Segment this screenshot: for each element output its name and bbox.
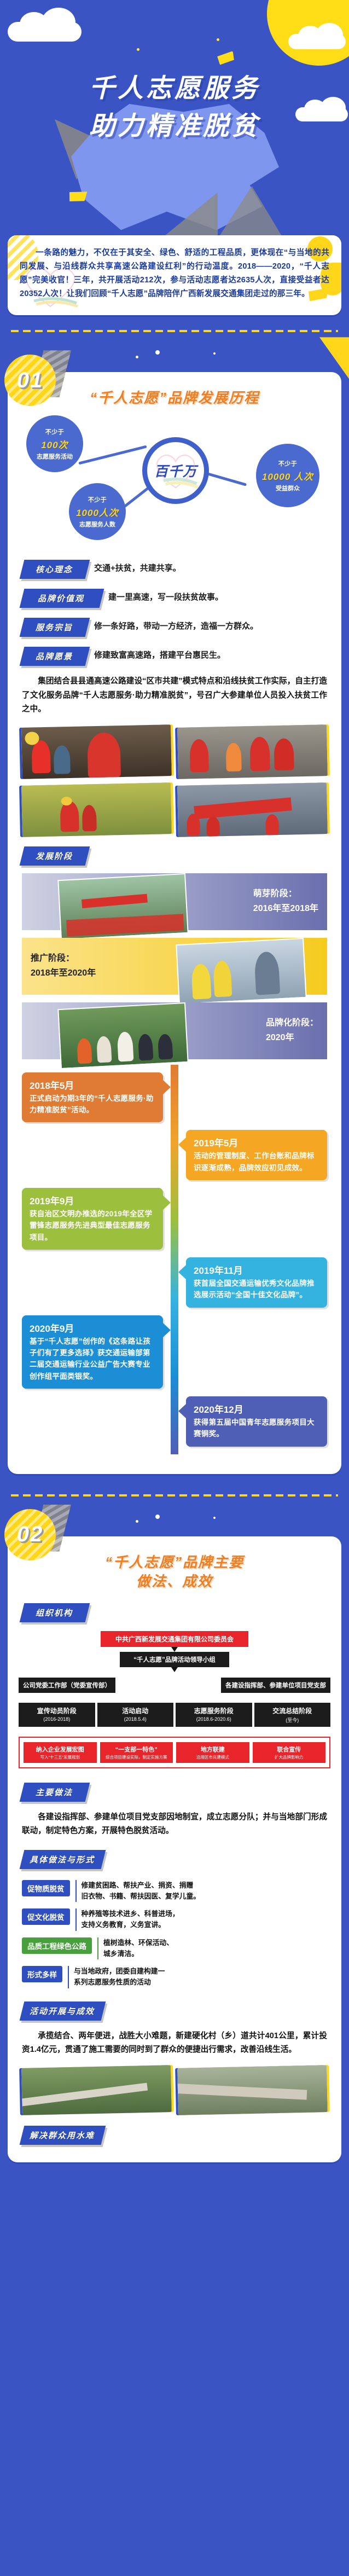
timeline-item-2020-12: 2020年12月 获得第五届中国青年志愿服务项目大赛铜奖。	[186, 1396, 327, 1447]
stage-photo	[57, 873, 188, 940]
section-01-card: “千人志愿”品牌发展历程 不少于 100次 志愿服务活动 不少于 1000人次 …	[8, 372, 341, 1473]
photo-road-construction	[177, 2065, 328, 2115]
effect-paragraph: 承揽结合、两年便进，战胜大小难题，新建硬化村（乡）道共计401公里，累计投资1.…	[8, 2021, 341, 2057]
plus-spark-icon	[213, 352, 216, 355]
form-label: 品质工程绿色公路	[22, 1937, 92, 1954]
form-label: 促物质脱贫	[22, 1880, 70, 1896]
mindmap-bubble-beneficiaries: 不少于 10000 人次 受益群众	[256, 444, 319, 507]
timeline-date: 2020年12月	[194, 1402, 319, 1415]
phase-period: (至今)	[257, 1716, 328, 1724]
infographic-page: 千人志愿服务 助力精准脱贫 一条路的魅力，不仅在于其安全、绿色、舒适的工程品质，…	[0, 0, 349, 2182]
measure-desc: 写入“十三五”发展规划	[25, 1755, 95, 1760]
water-heading-row: 解决群众用水难	[8, 2126, 341, 2145]
org-node-publicity-dept: 公司党委工作部（党委宣传部）	[19, 1678, 115, 1693]
tag-row-brand-vision: 品牌愿景 修建致富高速路，搭建平台惠民生。	[8, 647, 341, 666]
form-line: 种养殖等技术进乡、科普进场，	[82, 1908, 179, 1919]
forms-heading-row: 具体做法与形式	[8, 1850, 341, 1869]
form-line: 系列志愿服务性质的活动	[74, 1977, 165, 1988]
timeline-row: 2019年9月 获自治区文明办推选的2019年全区学雷锋志愿服务先进典型最佳志愿…	[22, 1188, 327, 1250]
brand-timeline: 2018年5月 正式启动为期3年的“千人志愿服务·助力精准脱贫”活动。 2019…	[8, 1059, 341, 1460]
timeline-text: 正式启动为期3年的“千人志愿服务·助力精准脱贫”活动。	[30, 1093, 155, 1116]
org-measure-branch-feature: “一支部一特色” 综合项目建设实际，制定实施方案	[100, 1742, 173, 1763]
stage-name: 萌芽阶段：	[253, 886, 318, 901]
form-item-varied: 形式多样 与当地政府，团委自建构建一 系列志愿服务性质的活动	[22, 1966, 327, 1988]
tag-label-text: 核心理念	[36, 564, 73, 575]
timeline-row: 2020年9月 基于“千人志愿”创作的《这条路让孩子们有了更多选择》获交通运输部…	[22, 1315, 327, 1389]
mindmap-link	[78, 445, 147, 465]
stage-heading-text: 发展阶段	[36, 850, 73, 862]
timeline-text: 活动的管理制度、工作台账和品牌标识逐渐成熟，品牌效应初见成效。	[194, 1150, 319, 1174]
org-phase-summary: 交流总结阶段 (至今)	[254, 1703, 331, 1727]
intro-paragraph: 一条路的魅力，不仅在于其安全、绿色、舒适的工程品质，更体现在“与当地的共同发展、…	[20, 246, 329, 301]
spark-dot	[136, 356, 138, 358]
bubble-caption: 志愿服务活动	[37, 452, 73, 461]
cloud-icon	[288, 34, 346, 49]
form-description: 修建贫困路、帮扶产业、捐资、捐赠 旧衣物、书籍、帮扶因医、复学儿童。	[75, 1880, 201, 1902]
section-01-paragraph: 集团结合县县通高速公路建设“区市共建”模式特点和沿线扶贫工作实际，自主打造了文化…	[8, 666, 341, 716]
practice-paragraph: 各建设指挥部、参建单位项目党支部因地制宜，成立志愿分队；并与当地部门形成联动，制…	[8, 1802, 341, 1838]
timeline-item-2018-05: 2018年5月 正式启动为期3年的“千人志愿服务·助力精准脱贫”活动。	[22, 1072, 163, 1123]
mindmap-bubble-activities: 不少于 100次 志愿服务活动	[26, 415, 83, 472]
measure-desc: 沿用区市共建模式	[178, 1755, 248, 1760]
phase-period: (2018.6-2020.6)	[178, 1716, 249, 1722]
timeline-date: 2018年5月	[30, 1078, 155, 1092]
timeline-text: 获自治区文明办推选的2019年全区学雷锋志愿服务先进典型最佳志愿服务项目。	[30, 1208, 155, 1243]
spark-dot	[217, 38, 219, 41]
practice-heading-row: 主要做法	[8, 1783, 341, 1802]
effect-photo-grid	[8, 2057, 341, 2114]
tag-label: 品牌愿景	[20, 647, 90, 666]
dashed-divider	[0, 325, 349, 337]
arrow-down-icon	[171, 1647, 178, 1652]
forms-heading-text: 具体做法与形式	[30, 1854, 95, 1865]
page-title: 千人志愿服务 助力精准脱贫	[0, 72, 349, 142]
tag-label-text: 品牌价值观	[38, 593, 84, 604]
effect-heading-label: 活动开展与成效	[20, 2001, 106, 2021]
form-line: 植树造林、环保活动、	[103, 1937, 173, 1948]
org-node-project-branches: 各建设指挥部、参建单位项目党支部	[221, 1678, 330, 1693]
bubble-prefix: 不少于	[45, 427, 65, 436]
org-heading-label: 组织机构	[20, 1603, 90, 1622]
stage-name: 品牌化阶段：	[266, 1016, 318, 1030]
tag-label: 服务宗旨	[20, 618, 90, 637]
effect-heading-text: 活动开展与成效	[30, 2005, 95, 2017]
org-measure-joint-publicity: 联合宣传 扩大品牌影响力	[253, 1742, 326, 1763]
timeline-row: 2019年5月 活动的管理制度、工作台账和品牌标识逐渐成熟，品牌效应初见成效。	[22, 1130, 327, 1180]
phase-name: 志愿服务阶段	[178, 1706, 249, 1715]
spark-dot	[137, 48, 139, 51]
stage-text: 推广阶段： 2018年至2020年	[31, 951, 96, 980]
section-01-number: 01	[4, 355, 56, 406]
measure-desc: 综合项目建设实际，制定实施方案	[102, 1755, 172, 1760]
dashed-divider	[0, 1489, 349, 1501]
org-heading-row: 组织机构	[8, 1603, 341, 1622]
tag-label: 品牌价值观	[20, 589, 104, 608]
org-level-3: 公司党委工作部（党委宣传部） 各建设指挥部、参建单位项目党支部	[19, 1678, 330, 1693]
org-chart: 中共广西新发展交通集团有限公司委员会 “千人志愿”品牌活动领导小组 公司党委工作…	[8, 1622, 341, 1768]
mindmap-bubble-volunteers: 不少于 1000人次 志愿服务人数	[69, 483, 126, 540]
tag-row-brand-values: 品牌价值观 建一里高速，写一段扶贫故事。	[8, 589, 341, 608]
forms-list: 促物质脱贫 修建贫困路、帮扶产业、捐资、捐赠 旧衣物、书籍、帮扶因医、复学儿童。…	[8, 1869, 341, 1988]
stage-period: 2020年	[266, 1030, 318, 1045]
forms-heading-label: 具体做法与形式	[20, 1850, 106, 1869]
plus-spark-icon	[213, 1517, 216, 1519]
timeline-row: 2018年5月 正式启动为期3年的“千人志愿服务·助力精准脱贫”活动。	[22, 1072, 327, 1123]
phase-period: (2016-2018)	[21, 1716, 92, 1722]
mindmap-center-node: 百千万	[142, 437, 209, 504]
tag-row-service-purpose: 服务宗旨 修一条好路，带动一方经济，造福一方群众。	[8, 618, 341, 637]
form-label: 形式多样	[22, 1966, 62, 1982]
stage-card-branding: 品牌化阶段： 2020年	[22, 1002, 327, 1059]
form-line: 与当地政府，团委自建构建一	[74, 1966, 165, 1977]
org-node-party-committee: 中共广西新发展交通集团有限公司委员会	[101, 1631, 248, 1647]
stage-card-seed: 萌芽阶段： 2016年至2018年	[22, 873, 327, 930]
measure-desc: 扩大品牌影响力	[254, 1755, 324, 1760]
bubble-caption: 志愿服务人数	[79, 520, 115, 529]
hero-title-line2: 助力精准脱贫	[0, 110, 349, 141]
stage-heading-label: 发展阶段	[20, 846, 90, 866]
timeline-text: 获首届全国交通运输优秀文化品牌推选展示活动“全国十佳文化品牌”。	[194, 1278, 319, 1301]
bubble-value: 10000 人次	[262, 469, 313, 483]
bubble-caption: 受益群众	[276, 484, 300, 492]
tag-row-core-concept: 核心理念 交通+扶贫，共建共享。	[8, 560, 341, 579]
form-description: 与当地政府，团委自建构建一 系列志愿服务性质的活动	[68, 1966, 165, 1988]
timeline-row: 2019年11月 获首届全国交通运输优秀文化品牌推选展示活动“全国十佳文化品牌”…	[22, 1257, 327, 1308]
form-item-culture: 促文化脱贫 种养殖等技术进乡、科普进场， 支持义务教育，义务宣讲。	[22, 1908, 327, 1930]
form-line: 城乡清洁。	[103, 1948, 173, 1959]
form-item-material: 促物质脱贫 修建贫困路、帮扶产业、捐资、捐赠 旧衣物、书籍、帮扶因医、复学儿童。	[22, 1880, 327, 1902]
bubble-prefix: 不少于	[278, 459, 298, 468]
confetti-icon	[217, 51, 235, 65]
stage-heading-row: 发展阶段	[8, 846, 341, 866]
water-heading-label: 解决群众用水难	[20, 2126, 106, 2145]
form-item-green-road: 品质工程绿色公路 植树造林、环保活动、 城乡清洁。	[22, 1937, 327, 1959]
org-measure-local-cooperation: 地方联建 沿用区市共建模式	[176, 1742, 249, 1763]
photo-roadside-cleanup	[21, 782, 172, 837]
timeline-item-2019-05: 2019年5月 活动的管理制度、工作台账和品牌标识逐渐成熟，品牌效应初见成效。	[186, 1130, 327, 1180]
bubble-prefix: 不少于	[88, 495, 107, 504]
timeline-item-2019-11: 2019年11月 获首届全国交通运输优秀文化品牌推选展示活动“全国十佳文化品牌”…	[186, 1257, 327, 1308]
tag-description: 建一里高速，写一段扶贫故事。	[108, 589, 223, 604]
photo-grid	[8, 716, 341, 836]
tag-label: 核心理念	[20, 560, 90, 579]
hero-title-line1: 千人志愿服务	[0, 72, 349, 103]
tag-description: 修建致富高速路，搭建平台惠民生。	[94, 647, 225, 662]
timeline-item-2020-09: 2020年9月 基于“千人志愿”创作的《这条路让孩子们有了更多选择》获交通运输部…	[22, 1315, 163, 1389]
tag-label-text: 品牌愿景	[36, 651, 73, 662]
timeline-text: 获得第五届中国青年志愿服务项目大赛铜奖。	[194, 1417, 319, 1440]
org-heading-text: 组织机构	[36, 1607, 73, 1618]
org-level-4: 宣传动员阶段 (2016-2018) 活动启动 (2018.5.4) 志愿服务阶…	[19, 1703, 330, 1727]
measure-title: 纳入企业发展宏图	[25, 1745, 95, 1754]
phase-name: 交流总结阶段	[257, 1706, 328, 1715]
org-phase-service: 志愿服务阶段 (2018.6-2020.6)	[176, 1703, 252, 1727]
org-level-5: 纳入企业发展宏图 写入“十三五”发展规划 “一支部一特色” 综合项目建设实际，制…	[19, 1737, 330, 1768]
form-description: 种养殖等技术进乡、科普进场， 支持义务教育，义务宣讲。	[75, 1908, 179, 1930]
tag-description: 交通+扶贫，共建共享。	[94, 560, 181, 575]
phase-period: (2018.5.4)	[100, 1716, 171, 1722]
tag-description: 修一条好路，带动一方经济，造福一方群众。	[94, 618, 258, 633]
bubble-value: 100次	[41, 437, 68, 451]
measure-title: 联合宣传	[254, 1745, 324, 1754]
stage-card-promotion: 推广阶段： 2018年至2020年	[22, 938, 327, 995]
practice-heading-label: 主要做法	[20, 1783, 90, 1802]
section-02-number: 02	[4, 1509, 56, 1560]
section-01: 01 “千人志愿”品牌发展历程 不少于 100次 志愿服务活动 不少于 1000…	[0, 325, 349, 1479]
stage-period: 2018年至2020年	[31, 966, 96, 980]
section-02-badge: 02	[4, 1509, 56, 1560]
measure-title: 地方联建	[178, 1745, 248, 1754]
page-footer-spacer	[0, 2168, 349, 2182]
org-phase-mobilization: 宣传动员阶段 (2016-2018)	[19, 1703, 95, 1727]
cloud-icon	[8, 22, 82, 42]
form-line: 修建贫困路、帮扶产业、捐资、捐赠	[82, 1880, 201, 1891]
effect-heading-row: 活动开展与成效	[8, 2001, 341, 2021]
stage-text: 品牌化阶段： 2020年	[266, 1016, 318, 1045]
section-02-title-line2: 做法、成效	[8, 1572, 341, 1591]
phase-name: 活动启动	[100, 1706, 171, 1715]
spark-dot	[155, 350, 160, 355]
timeline-date: 2019年9月	[30, 1193, 155, 1207]
measure-title: “一支部一特色”	[102, 1745, 172, 1754]
spark-dot	[155, 1515, 160, 1519]
section-02-card: “千人志愿”品牌主要 做法、成效 组织机构 中共广西新发展交通集团有限公司委员会…	[8, 1536, 341, 2162]
phase-name: 宣传动员阶段	[21, 1706, 92, 1715]
timeline-row: 2020年12月 获得第五届中国青年志愿服务项目大赛铜奖。	[22, 1396, 327, 1447]
stage-photo	[176, 938, 306, 1005]
section-02-title-line1: “千人志愿”品牌主要	[8, 1553, 341, 1572]
tag-label-text: 服务宗旨	[36, 622, 73, 633]
intro-section: 一条路的魅力，不仅在于其安全、绿色、舒适的工程品质，更体现在“与当地的共同发展、…	[0, 235, 349, 325]
bubble-value: 1000人次	[76, 505, 119, 519]
form-line: 支持义务教育，义务宣讲。	[82, 1919, 179, 1930]
stage-name: 推广阶段：	[31, 951, 96, 966]
timeline-date: 2020年9月	[30, 1321, 155, 1335]
hero-banner: 千人志愿服务 助力精准脱贫	[0, 0, 349, 235]
photo-volunteers-children	[21, 724, 172, 779]
org-measure-enterprise-plan: 纳入企业发展宏图 写入“十三五”发展规划	[24, 1742, 97, 1763]
org-node-leading-group: “千人志愿”品牌活动领导小组	[120, 1652, 229, 1667]
brand-mindmap: 不少于 100次 志愿服务活动 不少于 1000人次 志愿服务人数 不少于 10…	[8, 413, 341, 550]
form-line: 旧衣物、书籍、帮扶因医、复学儿童。	[82, 1891, 201, 1902]
timeline-text: 基于“千人志愿”创作的《这条路让孩子们有了更多选择》获交通运输部第二届交通运输行…	[30, 1336, 155, 1382]
timeline-item-2019-09: 2019年9月 获自治区文明办推选的2019年全区学雷锋志愿服务先进典型最佳志愿…	[22, 1188, 163, 1250]
section-02: 02 “千人志愿”品牌主要 做法、成效 组织机构 中共广西新发展交通集团有限公司…	[0, 1480, 349, 2168]
spark-dot	[136, 1520, 138, 1523]
intro-card: 一条路的魅力，不仅在于其安全、绿色、舒适的工程品质，更体现在“与当地的共同发展、…	[8, 235, 341, 315]
water-heading-text: 解决群众用水难	[30, 2130, 95, 2141]
form-description: 植树造林、环保活动、 城乡清洁。	[97, 1937, 173, 1959]
stage-period: 2016年至2018年	[253, 901, 318, 916]
timeline-date: 2019年5月	[194, 1135, 319, 1149]
heart-logo-icon	[150, 445, 201, 496]
photo-village-road	[21, 2065, 172, 2115]
stage-text: 萌芽阶段： 2016年至2018年	[253, 886, 318, 916]
form-label: 促文化脱贫	[22, 1908, 70, 1925]
timeline-date: 2019年11月	[194, 1263, 319, 1277]
mindmap-link	[205, 472, 247, 486]
photo-banner-ceremony	[177, 782, 328, 837]
section-01-badge: 01	[4, 355, 56, 406]
photo-volunteers-visit	[177, 724, 328, 779]
org-phase-launch: 活动启动 (2018.5.4)	[97, 1703, 174, 1727]
arrow-down-icon	[171, 1667, 178, 1672]
practice-heading-text: 主要做法	[36, 1786, 73, 1798]
